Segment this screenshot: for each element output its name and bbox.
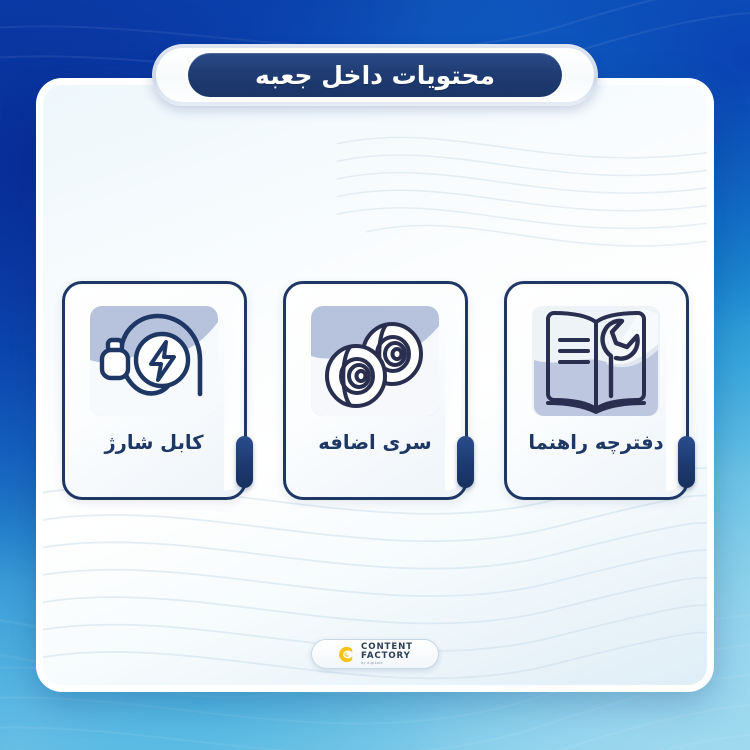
card-charging-cable[interactable]: کابل شارژ	[62, 281, 247, 500]
page-title: محتویات داخل جعبه	[255, 63, 495, 88]
card-label-charging-cable: کابل شارژ	[104, 432, 203, 453]
content-panel: دفترچه راهنما	[36, 78, 714, 692]
manual-book-wrench-icon	[530, 298, 662, 424]
box-contents-card-row: دفترچه راهنما	[43, 281, 707, 500]
card-side-tab	[678, 436, 695, 488]
content-factory-c-icon	[337, 645, 356, 664]
logo-subtitle: by digikala	[361, 662, 413, 665]
extra-eartips-icon	[309, 298, 441, 424]
card-side-tab	[236, 436, 253, 488]
card-label-eartips: سری اضافه	[318, 432, 431, 453]
charging-cable-icon	[88, 298, 220, 424]
content-factory-wordmark: CONTENT FACTORY by digikala	[361, 643, 413, 666]
logo-line-content: CONTENT	[361, 643, 413, 652]
card-label-manual: دفترچه راهنما	[528, 432, 663, 453]
card-eartips[interactable]: سری اضافه	[283, 281, 468, 500]
card-manual[interactable]: دفترچه راهنما	[504, 281, 689, 500]
logo-line-factory: FACTORY	[361, 652, 413, 661]
title-pill: محتویات داخل جعبه	[188, 53, 562, 97]
poster-canvas: دفترچه راهنما	[0, 0, 750, 750]
title-banner: محتویات داخل جعبه	[152, 44, 598, 106]
content-factory-logo: CONTENT FACTORY by digikala	[311, 639, 439, 669]
card-side-tab	[457, 436, 474, 488]
